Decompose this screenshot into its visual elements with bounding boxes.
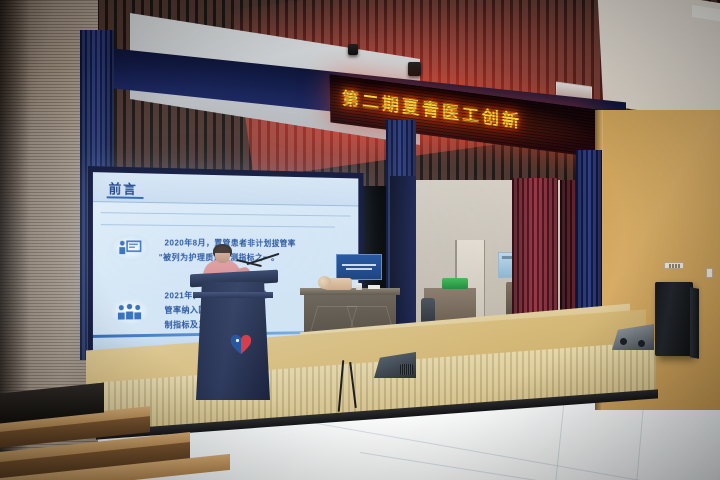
auditorium-photo: 第二期夏青医工创新 前言 <box>0 0 720 480</box>
ceiling-downlight <box>348 44 358 55</box>
speaker-driver <box>638 340 645 347</box>
heart-logo <box>228 330 254 356</box>
wall-outlet[interactable] <box>664 262 684 269</box>
slide-divider <box>101 224 336 227</box>
ceiling-downlight <box>408 62 421 76</box>
presenter-board-icon <box>111 234 150 261</box>
wall-switch[interactable] <box>706 268 713 278</box>
cpr-manikin-head <box>318 276 331 289</box>
slide-divider <box>101 212 351 216</box>
pa-tower-side <box>690 287 699 359</box>
papers <box>368 285 380 289</box>
green-container <box>442 278 468 289</box>
group-people-icon <box>111 297 150 324</box>
slide-title: 前言 <box>109 178 138 197</box>
podium-ledge <box>193 292 273 298</box>
event-backdrop-poster <box>336 254 382 280</box>
speaker-grille <box>400 364 413 375</box>
pa-tower-speaker <box>655 282 693 356</box>
presenter-head <box>215 246 230 263</box>
cup <box>356 283 362 290</box>
speaker-driver <box>620 338 627 345</box>
